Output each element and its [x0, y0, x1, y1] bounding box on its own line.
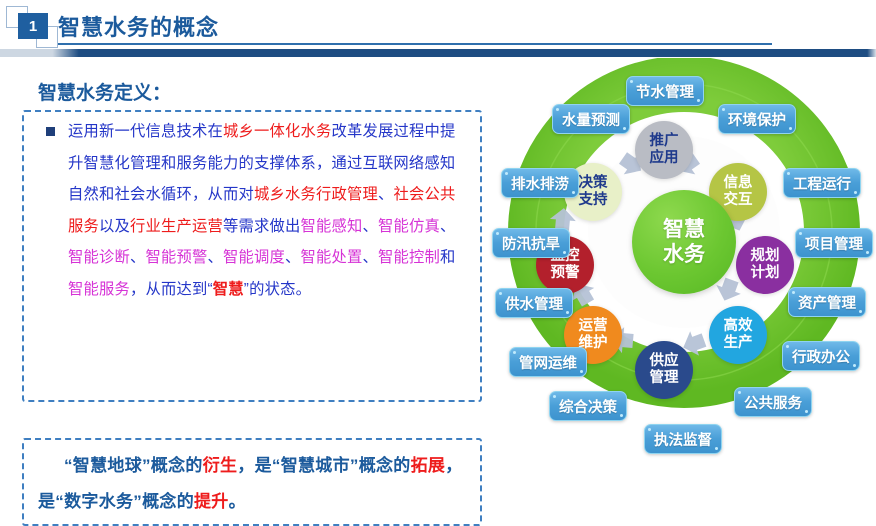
inner-circle-line2: 预警 [551, 265, 580, 282]
inner-circle-line1: 高效 [724, 318, 753, 335]
inner-circle-line1: 规划 [751, 248, 780, 265]
outer-label-water-quantity-forecast[interactable]: 水量预测 [552, 104, 630, 134]
outer-label-law-enforcement-supervision[interactable]: 执法监督 [644, 424, 722, 454]
inner-circle-line1: 信息 [724, 175, 753, 192]
inner-circle-efficient-production[interactable]: 高效 生产 [709, 306, 767, 364]
outer-label-comprehensive-decision[interactable]: 综合决策 [549, 391, 627, 421]
center-line2: 水务 [663, 242, 705, 267]
outer-label-project-management[interactable]: 项目管理 [795, 228, 873, 258]
definition-column: 智慧水务定义： 运用新一代信息技术在城乡一体化水务改革发展过程中提升智慧化管理和… [0, 58, 492, 500]
definition-heading: 智慧水务定义： [38, 78, 171, 105]
inner-circle-line2: 计划 [751, 265, 780, 282]
diagram-center-smart-water: 智慧 水务 [632, 190, 736, 294]
inner-circle-line2: 支持 [579, 192, 608, 209]
inner-circle-line1: 决策 [579, 175, 608, 192]
inner-circle-promotion-application[interactable]: 推广 应用 [635, 121, 693, 179]
slide-header: 1 智慧水务的概念 [0, 0, 876, 58]
outer-label-pipe-network-operation[interactable]: 管网运维 [509, 347, 587, 377]
outer-label-drainage-waterlogging[interactable]: 排水排涝 [501, 168, 579, 198]
outer-label-water-supply-management[interactable]: 供水管理 [495, 288, 573, 318]
outer-label-flood-drought-control[interactable]: 防汛抗旱 [492, 228, 570, 258]
title-underline [58, 43, 772, 45]
summary-box: “智慧地球”概念的衍生，是“智慧城市”概念的拓展，是“数字水务”概念的提升。 [22, 438, 482, 526]
outer-label-asset-management[interactable]: 资产管理 [788, 287, 866, 317]
inner-circle-supply-management[interactable]: 供应 管理 [635, 341, 693, 399]
outer-label-engineering-operation[interactable]: 工程运行 [783, 168, 861, 198]
inner-circle-line1: 供应 [650, 353, 679, 370]
bullet-square-icon [46, 127, 55, 136]
center-line1: 智慧 [663, 217, 705, 242]
outer-label-administrative-office[interactable]: 行政办公 [782, 341, 860, 371]
inner-circle-line2: 应用 [650, 150, 679, 167]
outer-label-water-saving-management[interactable]: 节水管理 [626, 76, 704, 106]
definition-box: 运用新一代信息技术在城乡一体化水务改革发展过程中提升智慧化管理和服务能力的支撑体… [22, 110, 482, 402]
inner-circle-line2: 管理 [650, 370, 679, 387]
inner-circle-line2: 生产 [724, 335, 753, 352]
inner-circle-line1: 运营 [579, 318, 608, 335]
outer-label-environmental-protection[interactable]: 环境保护 [718, 104, 796, 134]
page-title: 智慧水务的概念 [58, 10, 219, 42]
outer-label-public-service[interactable]: 公共服务 [734, 387, 812, 417]
slide-number-badge: 1 [18, 13, 48, 39]
inner-circle-line1: 推广 [650, 133, 679, 150]
header-accent-bar [0, 49, 876, 57]
summary-paragraph: “智慧地球”概念的衍生，是“智慧城市”概念的拓展，是“数字水务”概念的提升。 [38, 448, 470, 520]
smart-water-wheel-diagram: 推广 应用 信息 交互 规划 计划 高效 生产 供应 管理 运营 维护 监控 预… [492, 58, 876, 500]
inner-circle-line2: 交互 [724, 192, 753, 209]
inner-circle-planning-plan[interactable]: 规划 计划 [736, 236, 794, 294]
definition-paragraph: 运用新一代信息技术在城乡一体化水务改革发展过程中提升智慧化管理和服务能力的支撑体… [68, 116, 468, 306]
